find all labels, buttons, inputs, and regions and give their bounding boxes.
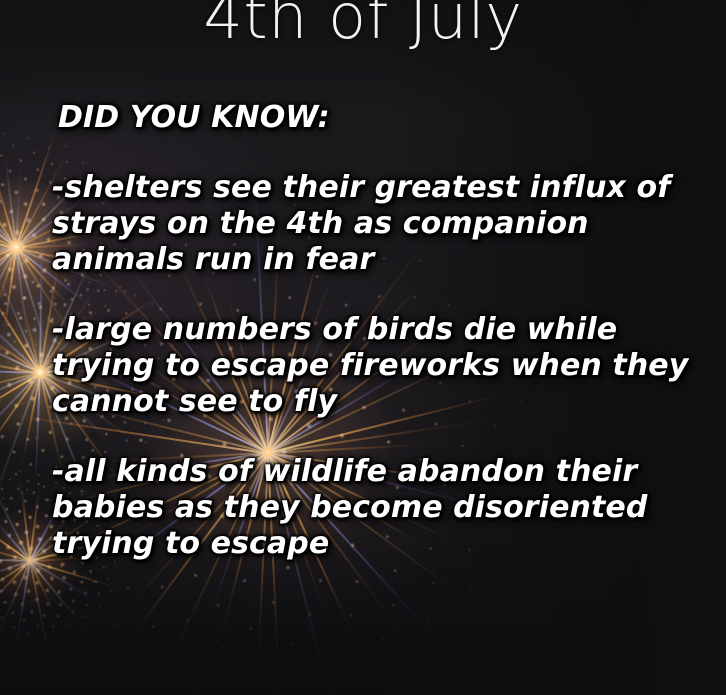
- fact-line: babies as they become disoriented: [52, 490, 692, 526]
- fact-line: -all kinds of wildlife abandon their: [52, 454, 692, 490]
- page-title: 4th of July: [0, 0, 726, 48]
- fact-line: -large numbers of birds die while: [52, 312, 692, 348]
- fact-line: trying to escape: [52, 526, 692, 562]
- fact-line: trying to escape fireworks when they: [52, 348, 692, 384]
- facts-container: -shelters see their greatest influx ofst…: [52, 170, 692, 562]
- fact-line: -shelters see their greatest influx of: [52, 170, 692, 206]
- fact-paragraph: -large numbers of birds die whiletrying …: [52, 312, 692, 420]
- fact-line: animals run in fear: [52, 242, 692, 278]
- fact-paragraph: -shelters see their greatest influx ofst…: [52, 170, 692, 278]
- fact-list: DID YOU KNOW: -shelters see their greate…: [52, 100, 692, 562]
- did-you-know-heading: DID YOU KNOW:: [58, 100, 692, 136]
- fact-line: cannot see to fly: [52, 384, 692, 420]
- fact-paragraph: -all kinds of wildlife abandon theirbabi…: [52, 454, 692, 562]
- meme-image: 4th of July DID YOU KNOW: -shelters see …: [0, 0, 726, 695]
- fact-line: strays on the 4th as companion: [52, 206, 692, 242]
